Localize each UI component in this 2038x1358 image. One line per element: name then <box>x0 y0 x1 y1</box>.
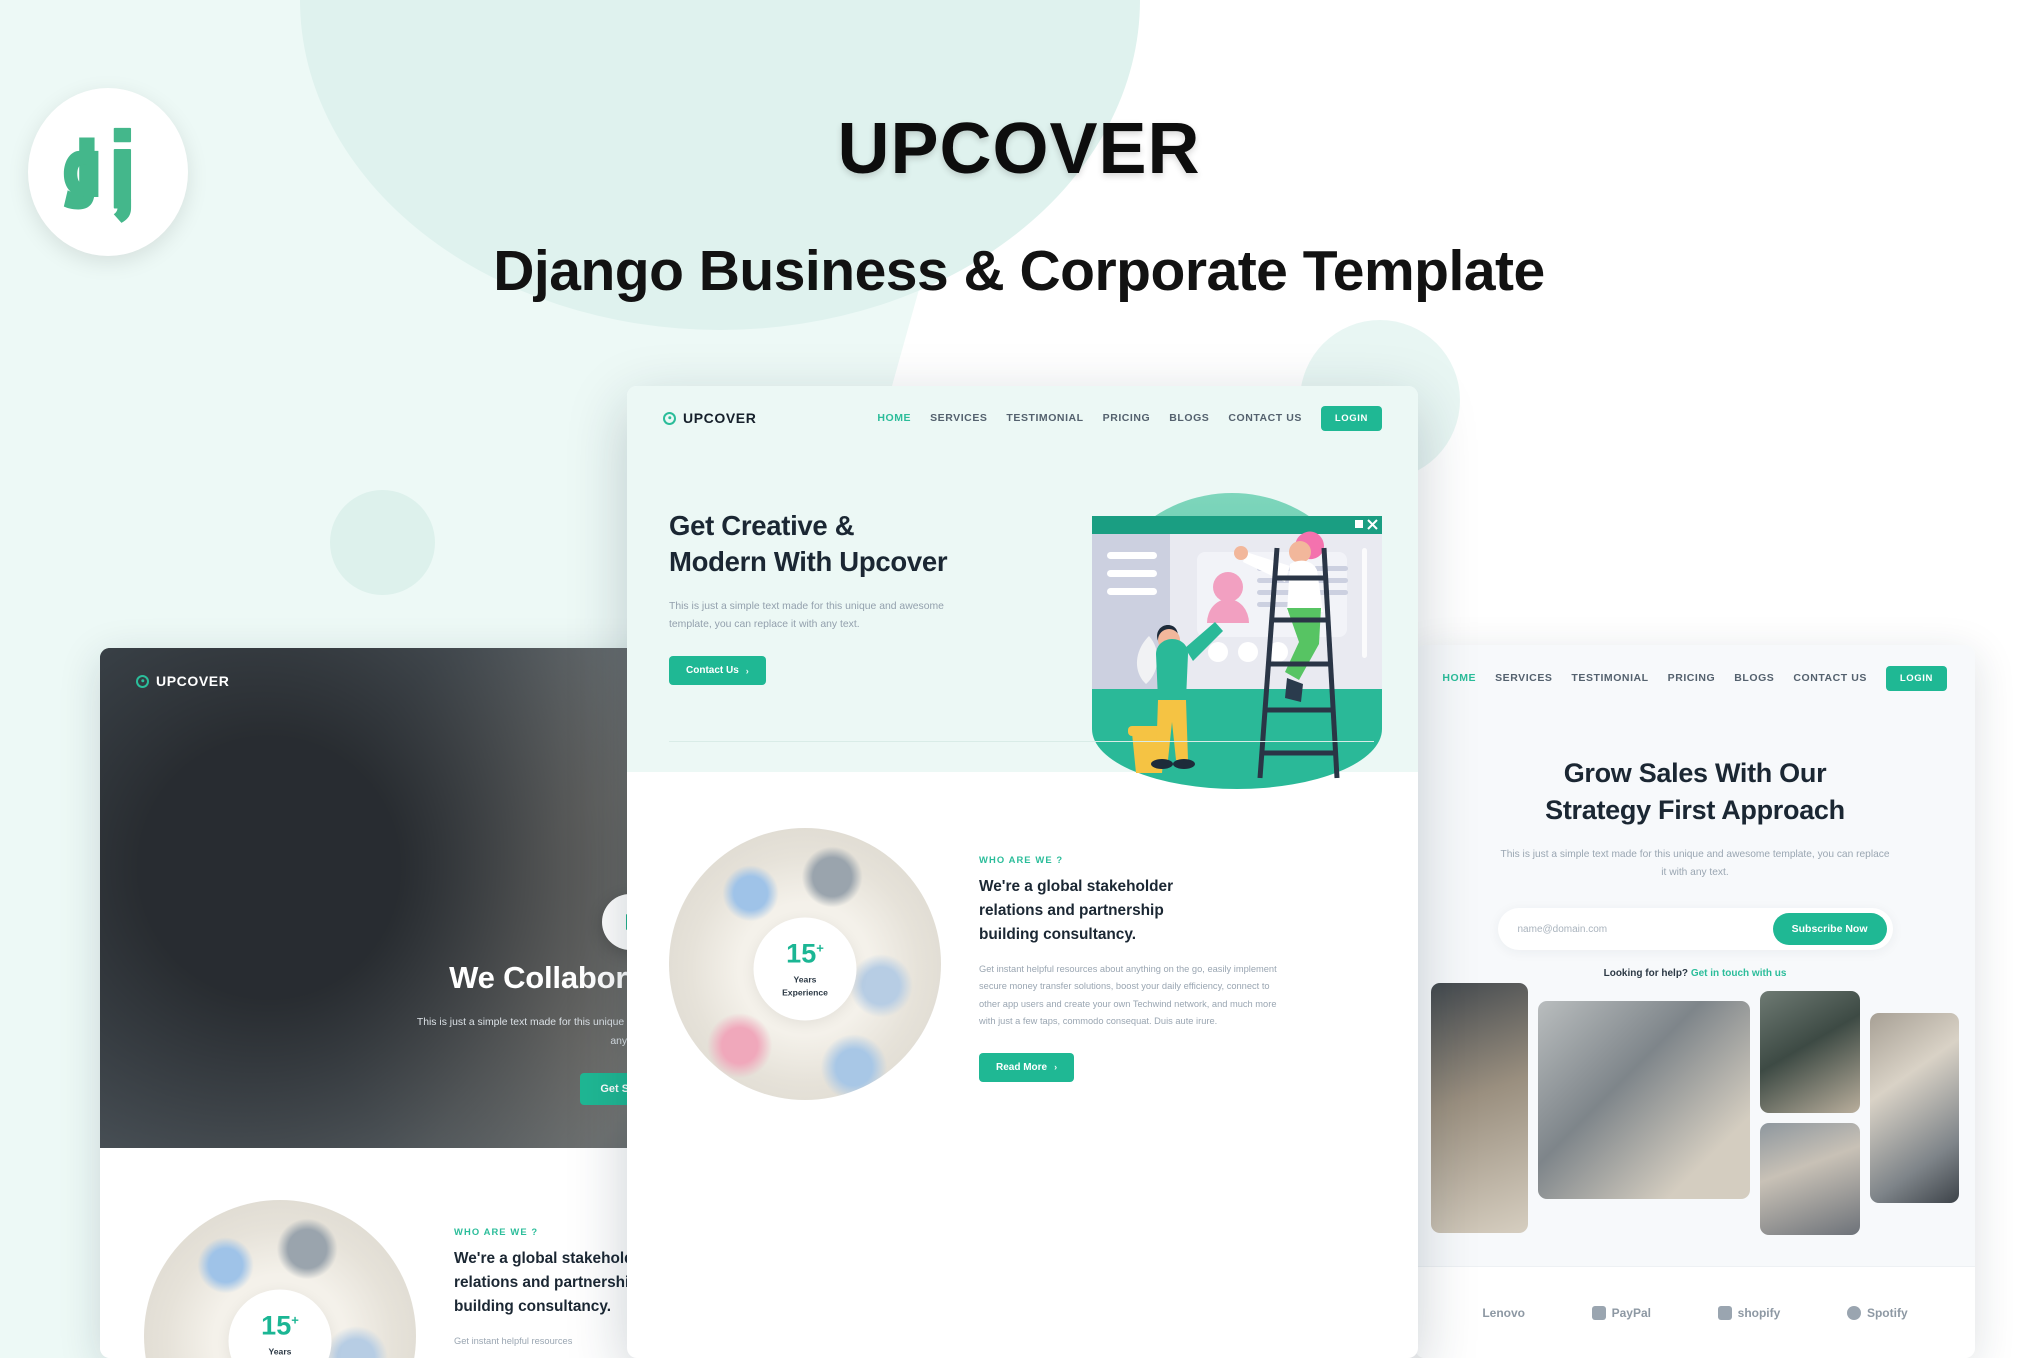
brand-logo-paypal: PayPal <box>1592 1306 1651 1320</box>
mid-badge-line1: Years <box>794 975 817 985</box>
brand-logo-lenovo: Lenovo <box>1482 1306 1525 1320</box>
page-subtitle: Django Business & Corporate Template <box>0 238 2038 304</box>
mid-hero-body: Get Creative & Modern With Upcover This … <box>627 450 1418 685</box>
shopify-icon <box>1718 1306 1732 1320</box>
nav-item-pricing[interactable]: PRICING <box>1103 412 1151 424</box>
help-text: Looking for help? <box>1604 968 1688 979</box>
nav-item-testimonial[interactable]: TESTIMONIAL <box>1571 672 1648 684</box>
login-button[interactable]: LOGIN <box>1321 406 1382 431</box>
left-badge-line1: Years <box>269 1347 292 1357</box>
read-more-button[interactable]: Read More › <box>979 1053 1074 1082</box>
mid-badge-line2: Experience <box>782 988 828 998</box>
nav-item-services[interactable]: SERVICES <box>1495 672 1552 684</box>
mid-hero-paragraph: This is just a simple text made for this… <box>669 598 951 634</box>
right-photo-gallery <box>1415 983 1975 1233</box>
gallery-photo-2 <box>1538 1001 1749 1199</box>
screenshot-window-middle: UPCOVER HOME SERVICES TESTIMONIAL PRICIN… <box>627 386 1418 1358</box>
mid-hero-divider <box>669 741 1374 742</box>
mid-about-copy: WHO ARE WE ? We're a global stakeholder … <box>979 828 1279 1100</box>
gallery-photo-1 <box>1431 983 1528 1233</box>
help-row: Looking for help? Get in touch with us <box>1415 968 1975 979</box>
email-input[interactable]: name@domain.com <box>1518 924 1608 935</box>
left-badge-number: 15+ <box>261 1313 299 1340</box>
right-navbar: HOME SERVICES TESTIMONIAL PRICING BLOGS … <box>1415 645 1975 711</box>
contact-us-button[interactable]: Contact Us › <box>669 656 766 685</box>
chevron-right-icon: › <box>1054 1062 1057 1072</box>
chevron-right-icon: › <box>746 666 749 676</box>
nav-item-contact-us[interactable]: CONTACT US <box>1228 412 1302 424</box>
mid-hero-section: UPCOVER HOME SERVICES TESTIMONIAL PRICIN… <box>627 386 1418 772</box>
get-in-touch-link[interactable]: Get in touch with us <box>1691 968 1787 979</box>
gallery-column <box>1760 983 1860 1235</box>
gallery-photo-5 <box>1870 1013 1959 1203</box>
screenshot-window-right: HOME SERVICES TESTIMONIAL PRICING BLOGS … <box>1415 645 1975 1358</box>
nav-item-home[interactable]: HOME <box>1442 672 1476 684</box>
mid-about-team-photo: 15+ Years Experience <box>669 828 941 1100</box>
gallery-photo-3 <box>1760 991 1860 1113</box>
brand-logo-shopify: shopify <box>1718 1306 1781 1320</box>
mid-badge-number: 15+ <box>786 941 824 968</box>
spotify-icon <box>1847 1306 1861 1320</box>
right-page: HOME SERVICES TESTIMONIAL PRICING BLOGS … <box>1415 645 1975 1358</box>
mid-hero-copy: Get Creative & Modern With Upcover This … <box>669 486 999 685</box>
hero-illustration <box>1032 448 1418 798</box>
left-about-team-photo: 15+ Years Experience <box>144 1200 416 1358</box>
gallery-photo-4 <box>1760 1123 1860 1235</box>
left-brand[interactable]: UPCOVER <box>136 673 229 689</box>
login-button[interactable]: LOGIN <box>1886 666 1947 691</box>
mid-hero-heading: Get Creative & Modern With Upcover <box>669 508 999 581</box>
mid-about-paragraph: Get instant helpful resources about anyt… <box>979 961 1279 1031</box>
right-hero: Grow Sales With Our Strategy First Appro… <box>1415 711 1975 979</box>
nav-item-services[interactable]: SERVICES <box>930 412 987 424</box>
left-experience-badge: 15+ Years Experience <box>229 1290 332 1358</box>
paypal-icon <box>1592 1306 1606 1320</box>
nav-item-testimonial[interactable]: TESTIMONIAL <box>1006 412 1083 424</box>
subscribe-button[interactable]: Subscribe Now <box>1773 913 1887 945</box>
left-about-copy: WHO ARE WE ? We're a global stakeholder … <box>454 1200 648 1358</box>
mid-about-eyebrow: WHO ARE WE ? <box>979 854 1279 865</box>
mid-nav-links: HOME SERVICES TESTIMONIAL PRICING BLOGS … <box>877 406 1382 431</box>
mid-navbar: UPCOVER HOME SERVICES TESTIMONIAL PRICIN… <box>627 386 1418 450</box>
brand-name: UPCOVER <box>156 673 229 689</box>
nav-item-home[interactable]: HOME <box>877 412 911 424</box>
left-about-eyebrow: WHO ARE WE ? <box>454 1226 648 1237</box>
poster-canvas: UPCOVER Django Business & Corporate Temp… <box>0 0 2038 1358</box>
page-title: UPCOVER <box>0 108 2038 190</box>
background-blob-small-top <box>330 490 435 595</box>
nav-item-blogs[interactable]: BLOGS <box>1734 672 1774 684</box>
mid-brand[interactable]: UPCOVER <box>663 410 756 426</box>
nav-item-blogs[interactable]: BLOGS <box>1169 412 1209 424</box>
mid-experience-badge: 15+ Years Experience <box>754 918 857 1021</box>
right-hero-paragraph: This is just a simple text made for this… <box>1498 846 1893 882</box>
nav-item-contact-us[interactable]: CONTACT US <box>1793 672 1867 684</box>
left-about-paragraph: Get instant helpful resources <box>454 1333 648 1350</box>
brand-ring-icon <box>663 412 676 425</box>
brand-ring-icon <box>136 675 149 688</box>
brand-name: UPCOVER <box>683 410 756 426</box>
mid-about-heading: We're a global stakeholder relations and… <box>979 875 1279 947</box>
brand-logo-spotify: Spotify <box>1847 1306 1908 1320</box>
mid-about-section: 15+ Years Experience WHO ARE WE ? We're … <box>627 772 1418 1100</box>
illustration-window-titlebar <box>1092 516 1382 534</box>
subscribe-row: name@domain.com Subscribe Now <box>1498 908 1893 950</box>
nav-item-pricing[interactable]: PRICING <box>1668 672 1716 684</box>
right-nav-links: HOME SERVICES TESTIMONIAL PRICING BLOGS … <box>1442 666 1947 691</box>
right-hero-heading: Grow Sales With Our Strategy First Appro… <box>1415 755 1975 828</box>
left-about-heading: We're a global stakeholder relations and… <box>454 1247 648 1319</box>
brand-logo-bar: Lenovo PayPal shopify Spotify <box>1415 1266 1975 1358</box>
